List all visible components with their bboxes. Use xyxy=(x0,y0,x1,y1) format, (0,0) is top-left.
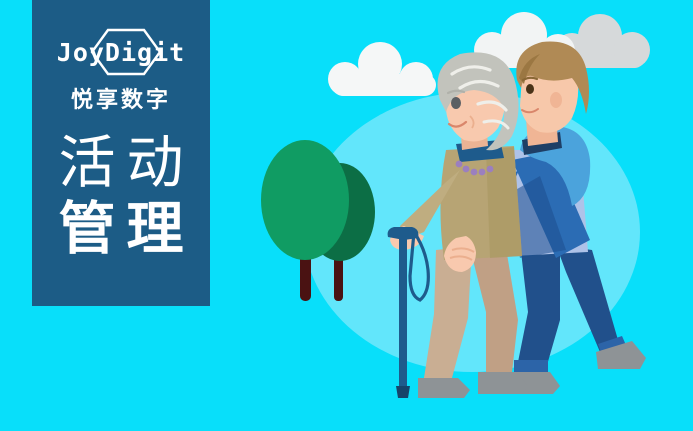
brand-logo: JoyDigit 悦享数字 xyxy=(32,26,210,114)
cloud-left xyxy=(328,42,436,96)
cane-tip xyxy=(396,386,410,398)
page-title: 活动 管理 xyxy=(32,130,210,262)
man-ear xyxy=(550,92,562,108)
page-title-line2: 管理 xyxy=(48,196,195,262)
woman-eye xyxy=(451,97,461,109)
woman-shoe-front xyxy=(418,378,470,398)
logo-chinese-name: 悦享数字 xyxy=(71,82,171,114)
page-title-line1: 活动 xyxy=(48,130,195,196)
poster-canvas: JoyDigit 悦享数字 活动 管理 xyxy=(0,0,693,431)
logo-hexagon-icon: JoyDigit xyxy=(46,26,196,78)
cane-shaft xyxy=(399,236,407,388)
title-panel: JoyDigit 悦享数字 活动 管理 xyxy=(32,0,210,306)
logo-wordmark: JoyDigit xyxy=(46,26,196,78)
man-eye xyxy=(526,84,534,94)
